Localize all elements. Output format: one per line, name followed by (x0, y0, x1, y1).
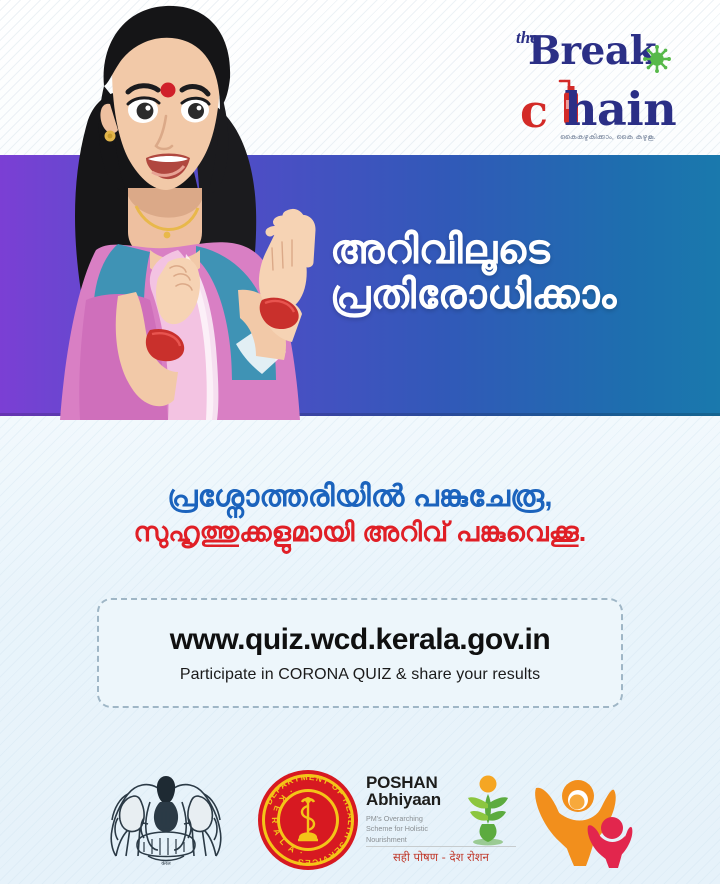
kerala-government-emblem: केरल (104, 772, 228, 868)
svg-text:केरल: केरल (161, 860, 171, 867)
department-of-health-services-seal: DEPARTMENT OF HEALTH SERVICES · K E R A … (256, 768, 360, 872)
logo-word-break: Break (528, 28, 656, 74)
quiz-url[interactable]: www.quiz.wcd.kerala.gov.in (170, 623, 550, 657)
slogan-line-1: പ്രശ്നോത്തരിയിൽ പങ്കുചേരൂ, (0, 478, 720, 516)
poshan-title-line-2: Abhiyaan (366, 791, 462, 808)
break-the-chain-logo: Break the c hain (516, 28, 696, 150)
page-headline: അറിവിലൂടെ പ്രതിരോധിക്കാം (330, 228, 704, 318)
logo-tagline: കൈകഴുകിക്കാം, കൈ കഴുകൂ. (522, 134, 694, 142)
poshan-subtitle-line-1: PM's Overarching (366, 814, 462, 824)
headline-line-1: അറിവിലൂടെ (330, 228, 704, 273)
virus-icon (642, 44, 672, 74)
logo-word-hain: hain (564, 82, 676, 136)
footer-logo-row: केरल DEPARTMENT OF HEALTH SERVICES · K E… (0, 760, 720, 872)
quiz-url-box[interactable]: www.quiz.wcd.kerala.gov.in Participate i… (97, 598, 623, 708)
slogan-block: പ്രശ്നോത്തരിയിൽ പങ്കുചേരൂ, സുഹൃത്തുക്കളു… (0, 478, 720, 549)
headline-line-2: പ്രതിരോധിക്കാം (330, 273, 704, 318)
quiz-url-subtitle: Participate in CORONA QUIZ & share your … (180, 666, 540, 684)
woman-in-saree-illustration (0, 0, 360, 420)
poster-root: Break the c hain (0, 0, 720, 884)
poshan-text-block: POSHAN Abhiyaan PM's Overarching Scheme … (366, 774, 462, 845)
poshan-hindi-tagline: सही पोषण - देश रोशन (366, 846, 516, 865)
poshan-abhiyaan-logo: POSHAN Abhiyaan PM's Overarching Scheme … (366, 774, 516, 866)
poshan-title-line-1: POSHAN (366, 774, 462, 791)
poshan-subtitle-line-2: Scheme for Holistic (366, 824, 462, 834)
logo-letter-c: c (520, 84, 548, 138)
poshan-sprout-figure-icon (464, 774, 514, 846)
poshan-subtitle-line-3: Nourishment (366, 835, 462, 845)
slogan-line-2: സുഹൃത്തുക്കളുമായി അറിവ് പങ്കുവെക്കൂ. (0, 516, 720, 550)
poshan-subtitle: PM's Overarching Scheme for Holistic Nou… (366, 814, 462, 845)
women-and-child-development-logo (526, 770, 636, 870)
